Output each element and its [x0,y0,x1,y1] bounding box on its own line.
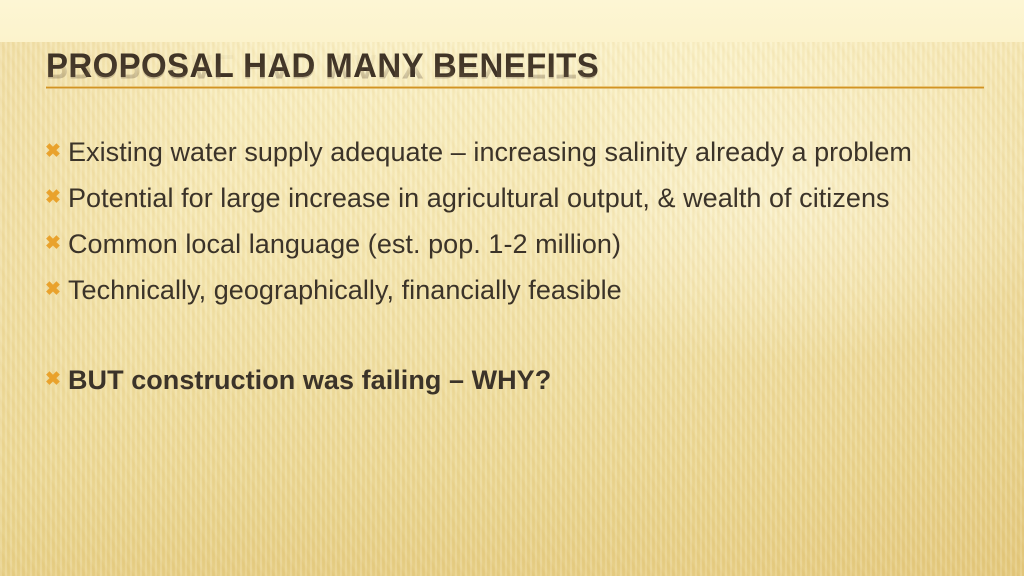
page-title: PROPOSAL HAD MANY BENEFITS [46,47,958,85]
slide-title-area: PROPOSAL HAD MANY BENEFITS PROPOSAL HAD … [46,47,986,109]
slide-body: ✖ Existing water supply adequate – incre… [40,130,1000,404]
list-item: ✖ Common local language (est. pop. 1-2 m… [40,222,1000,266]
list-item-label: Technically, geographically, financially… [68,268,968,312]
background-top-band [0,0,1024,42]
cross-bullet-icon: ✖ [40,130,68,174]
list-item-label: Common local language (est. pop. 1-2 mil… [68,222,968,266]
blank-line-spacer [40,314,1000,358]
list-item: ✖ Technically, geographically, financial… [40,268,1000,312]
list-item-label: Potential for large increase in agricult… [68,176,968,220]
list-item-label: Existing water supply adequate – increas… [68,130,968,174]
cross-bullet-icon: ✖ [40,268,68,312]
presentation-slide: PROPOSAL HAD MANY BENEFITS PROPOSAL HAD … [0,0,1024,576]
list-item: ✖ Potential for large increase in agricu… [40,176,1000,220]
cross-bullet-icon: ✖ [40,358,68,402]
title-underline-rule [46,86,984,89]
cross-bullet-icon: ✖ [40,222,68,266]
list-item: ✖ Existing water supply adequate – incre… [40,130,1000,174]
list-item-label: BUT construction was failing – WHY? [68,358,968,402]
cross-bullet-icon: ✖ [40,176,68,220]
list-item-emphasized: ✖ BUT construction was failing – WHY? [40,358,1000,402]
